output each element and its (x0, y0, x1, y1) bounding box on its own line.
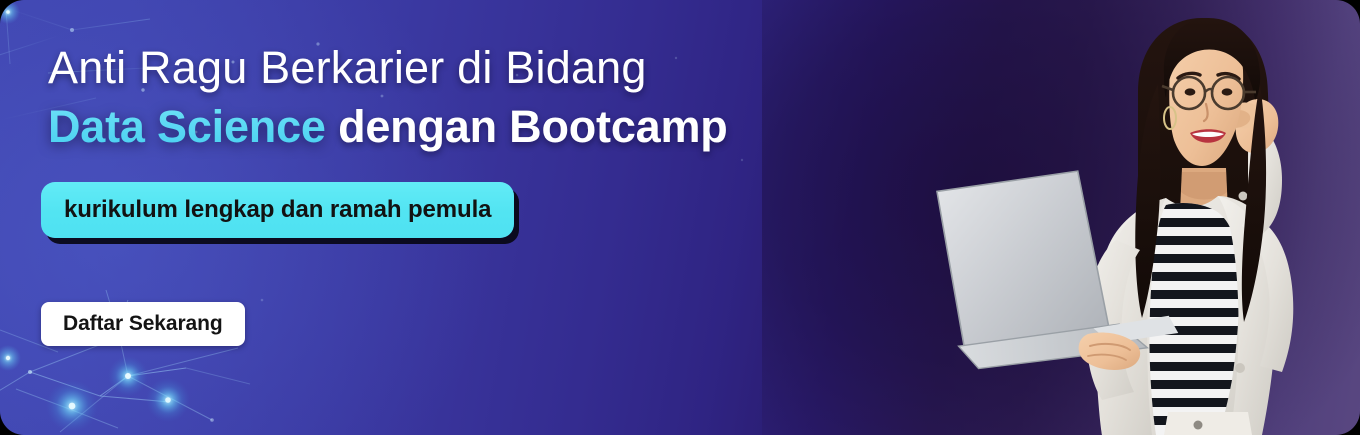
status-badge: kurikulum lengkap dan ramah pemula (41, 182, 514, 238)
promo-banner: Anti Ragu Berkarier di Bidang Data Scien… (0, 0, 1360, 435)
woman-with-laptop-photo (930, 0, 1360, 435)
headline-line-2-rest: dengan Bootcamp (326, 101, 728, 152)
banner-content: Anti Ragu Berkarier di Bidang Data Scien… (41, 0, 941, 435)
page-title: Anti Ragu Berkarier di Bidang Data Scien… (48, 40, 728, 155)
headline-line-1: Anti Ragu Berkarier di Bidang (48, 42, 647, 93)
register-now-button-label: Daftar Sekarang (63, 312, 223, 336)
headline-line-2: Data Science dengan Bootcamp (48, 99, 728, 155)
register-now-button[interactable]: Daftar Sekarang (41, 302, 245, 346)
status-badge-label: kurikulum lengkap dan ramah pemula (64, 196, 491, 224)
headline-accent-text: Data Science (48, 101, 326, 152)
